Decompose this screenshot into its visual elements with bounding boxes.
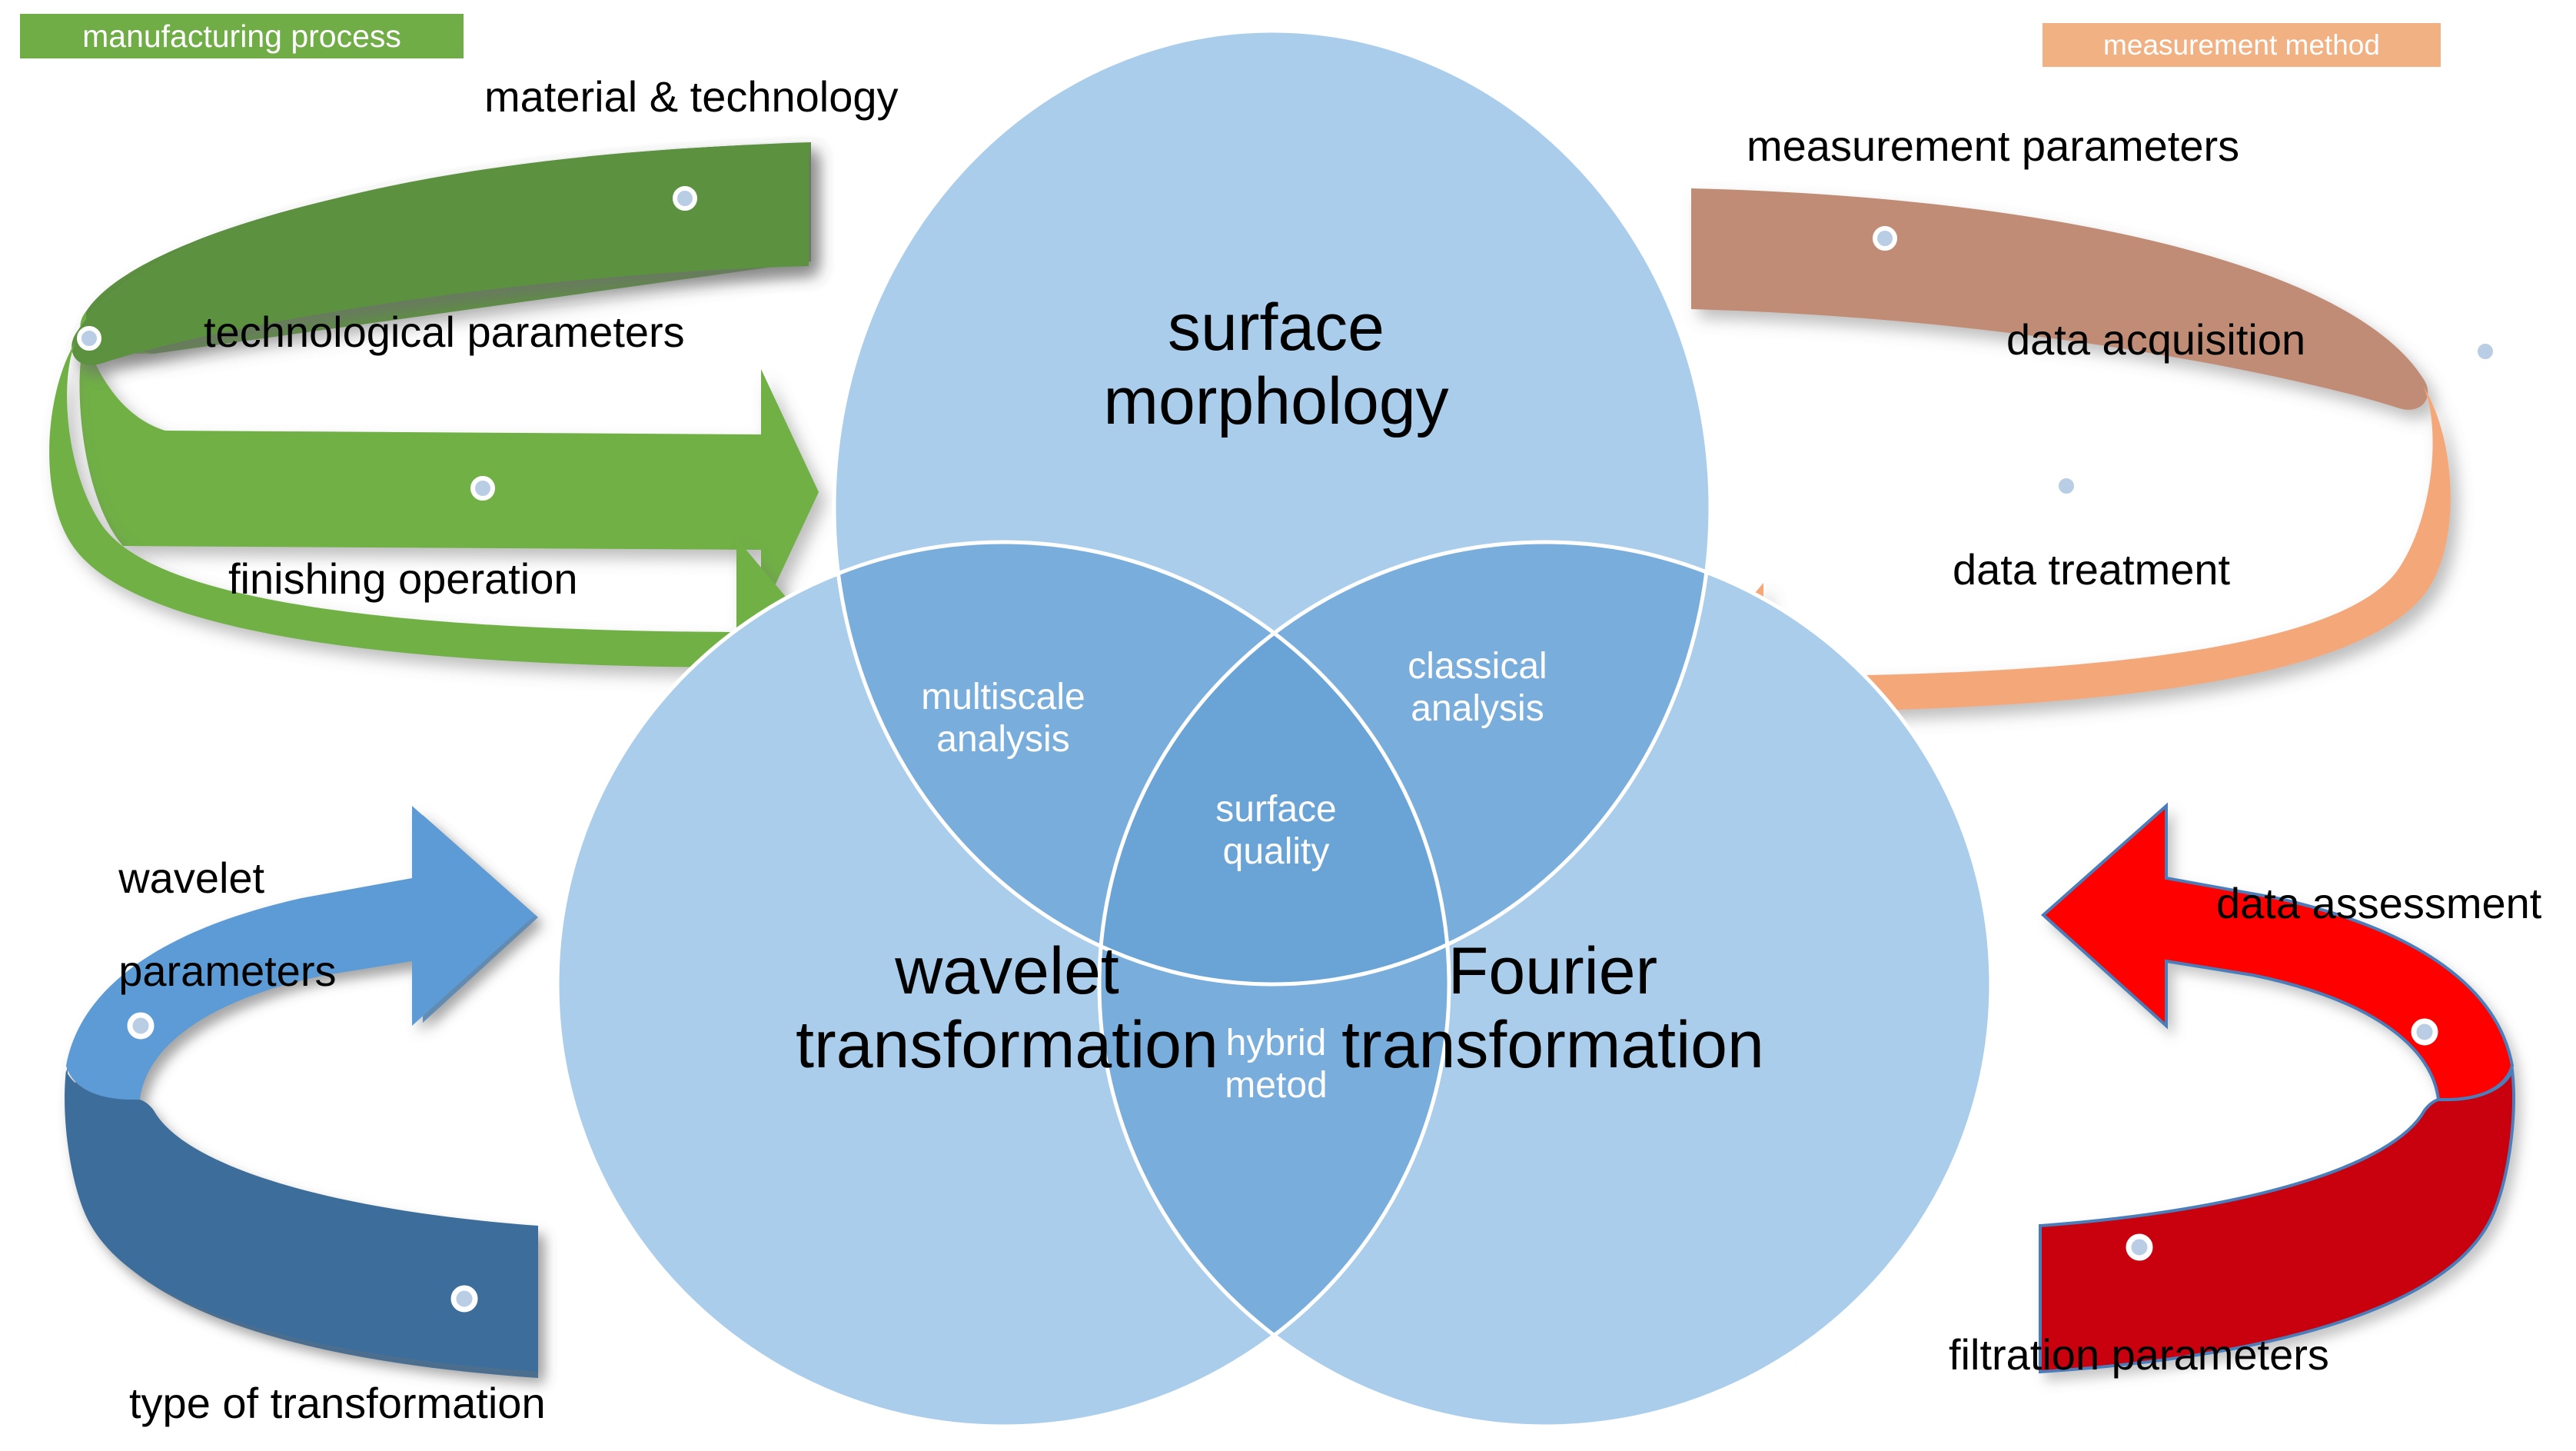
handle-dot (2414, 1021, 2435, 1043)
label-type-of-transformation: type of transformation (129, 1380, 546, 1426)
handle-dot (675, 188, 695, 208)
handle-dot (79, 328, 99, 348)
label-data-acquisition: data acquisition (2006, 317, 2305, 363)
handle-dot (2475, 341, 2495, 361)
overlap-label-hybrid-metod-line1: hybrid (1226, 1023, 1327, 1063)
circle-label-wavelet-line1: wavelet (895, 934, 1119, 1008)
label-wavelet-parameters: wavelet parameters (71, 809, 336, 1041)
venn-and-arrows-graphics (0, 0, 2576, 1451)
label-measurement-parameters: measurement parameters (1747, 123, 2239, 169)
tag-manufacturing-process-label: manufacturing process (82, 18, 401, 55)
label-technological-parameters: technological parameters (204, 309, 685, 355)
tag-measurement-method[interactable]: measurement method (2043, 23, 2441, 67)
overlap-label-surface-quality-line1: surface (1215, 789, 1336, 830)
label-filtration-parameters: filtration parameters (1949, 1332, 2329, 1378)
circle-label-surface-morphology-line2: morphology (1103, 364, 1448, 438)
overlap-label-surface-quality: surface quality (1138, 789, 1414, 873)
overlap-label-multiscale-analysis-line1: multiscale (921, 677, 1085, 717)
overlap-label-hybrid-metod-line2: metod (1225, 1065, 1327, 1106)
diagram-canvas: manufacturing process measurement method… (0, 0, 2576, 1451)
handle-dot (454, 1288, 475, 1310)
handle-dot (473, 478, 493, 498)
label-data-assessment: data assessment (2216, 880, 2541, 927)
overlap-label-hybrid-metod: hybrid metod (1138, 1023, 1414, 1107)
label-data-treatment: data treatment (1953, 547, 2230, 593)
handle-dot (2056, 476, 2076, 496)
label-material-technology: material & technology (484, 74, 899, 120)
tag-manufacturing-process[interactable]: manufacturing process (20, 14, 464, 58)
overlap-label-multiscale-analysis-line2: analysis (936, 719, 1069, 760)
overlap-label-classical-analysis-line2: analysis (1411, 688, 1544, 729)
handle-dot (1875, 228, 1895, 248)
label-wavelet-parameters-line1: wavelet (118, 854, 264, 902)
handle-dot (2129, 1236, 2150, 1258)
overlap-label-multiscale-analysis: multiscale analysis (849, 677, 1157, 760)
label-finishing-operation: finishing operation (228, 556, 578, 602)
tag-measurement-method-label: measurement method (2103, 29, 2380, 62)
circle-label-surface-morphology-line1: surface (1168, 291, 1384, 364)
overlap-label-classical-analysis-line1: classical (1408, 646, 1547, 687)
label-wavelet-parameters-line2: parameters (118, 947, 336, 995)
circle-label-surface-morphology: surface morphology (984, 291, 1568, 439)
overlap-label-classical-analysis: classical analysis (1339, 646, 1616, 730)
circle-label-fourier-line1: Fourier (1448, 934, 1657, 1008)
overlap-label-surface-quality-line2: quality (1223, 831, 1330, 872)
